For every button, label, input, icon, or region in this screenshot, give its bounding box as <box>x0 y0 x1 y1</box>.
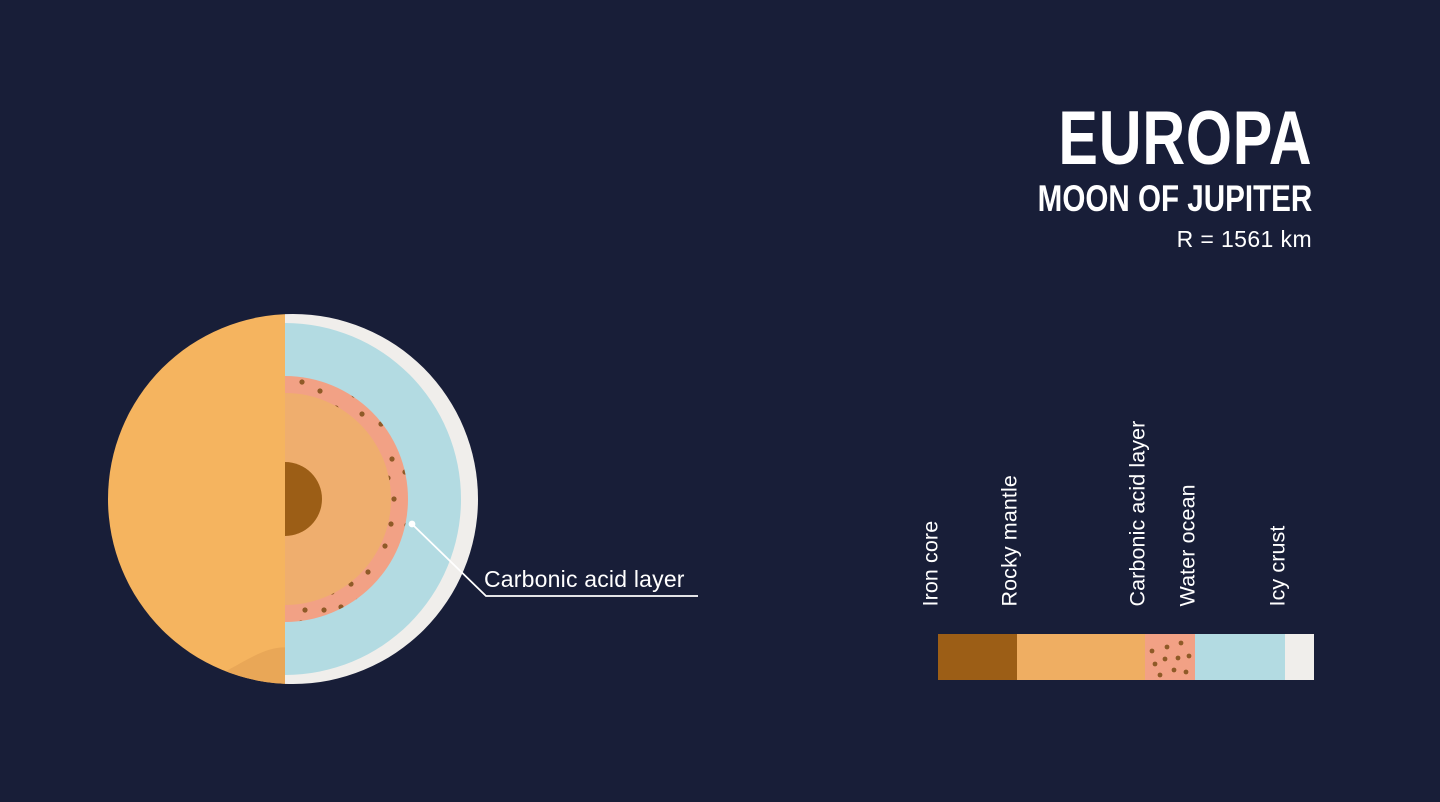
legend: Iron coreRocky mantleCarbonic acid layer… <box>938 360 1314 680</box>
surface-lit-area <box>96 296 285 716</box>
page-title: EUROPA <box>1044 104 1312 174</box>
page-subtitle: MOON OF JUPITER <box>1037 180 1312 219</box>
legend-swatch-water-ocean[interactable] <box>1195 634 1285 680</box>
legend-swatch-carbonic-acid-layer[interactable] <box>1145 634 1195 680</box>
legend-swatch-iron-core[interactable] <box>938 634 1017 680</box>
title-block: EUROPA MOON OF JUPITER R = 1561 km <box>969 104 1312 253</box>
legend-label-water-ocean: Water ocean <box>1178 484 1200 606</box>
callout-label: Carbonic acid layer <box>484 566 685 593</box>
radius-value: R = 1561 km <box>969 226 1312 253</box>
legend-swatch-icy-crust[interactable] <box>1285 634 1314 680</box>
legend-label-icy-crust: Icy crust <box>1268 525 1290 606</box>
legend-label-rocky-mantle: Rocky mantle <box>1000 475 1022 606</box>
legend-bar <box>938 634 1314 680</box>
europa-cutaway-diagram <box>96 296 736 716</box>
infographic-canvas: EUROPA MOON OF JUPITER R = 1561 km <box>0 0 1440 802</box>
legend-swatch-speckles <box>1145 634 1195 680</box>
legend-label-carbonic-acid-layer: Carbonic acid layer <box>1128 420 1150 606</box>
moon-surface <box>96 296 292 716</box>
legend-labels: Iron coreRocky mantleCarbonic acid layer… <box>938 360 1314 606</box>
legend-label-iron-core: Iron core <box>921 520 943 606</box>
legend-swatch-rocky-mantle[interactable] <box>1017 634 1145 680</box>
